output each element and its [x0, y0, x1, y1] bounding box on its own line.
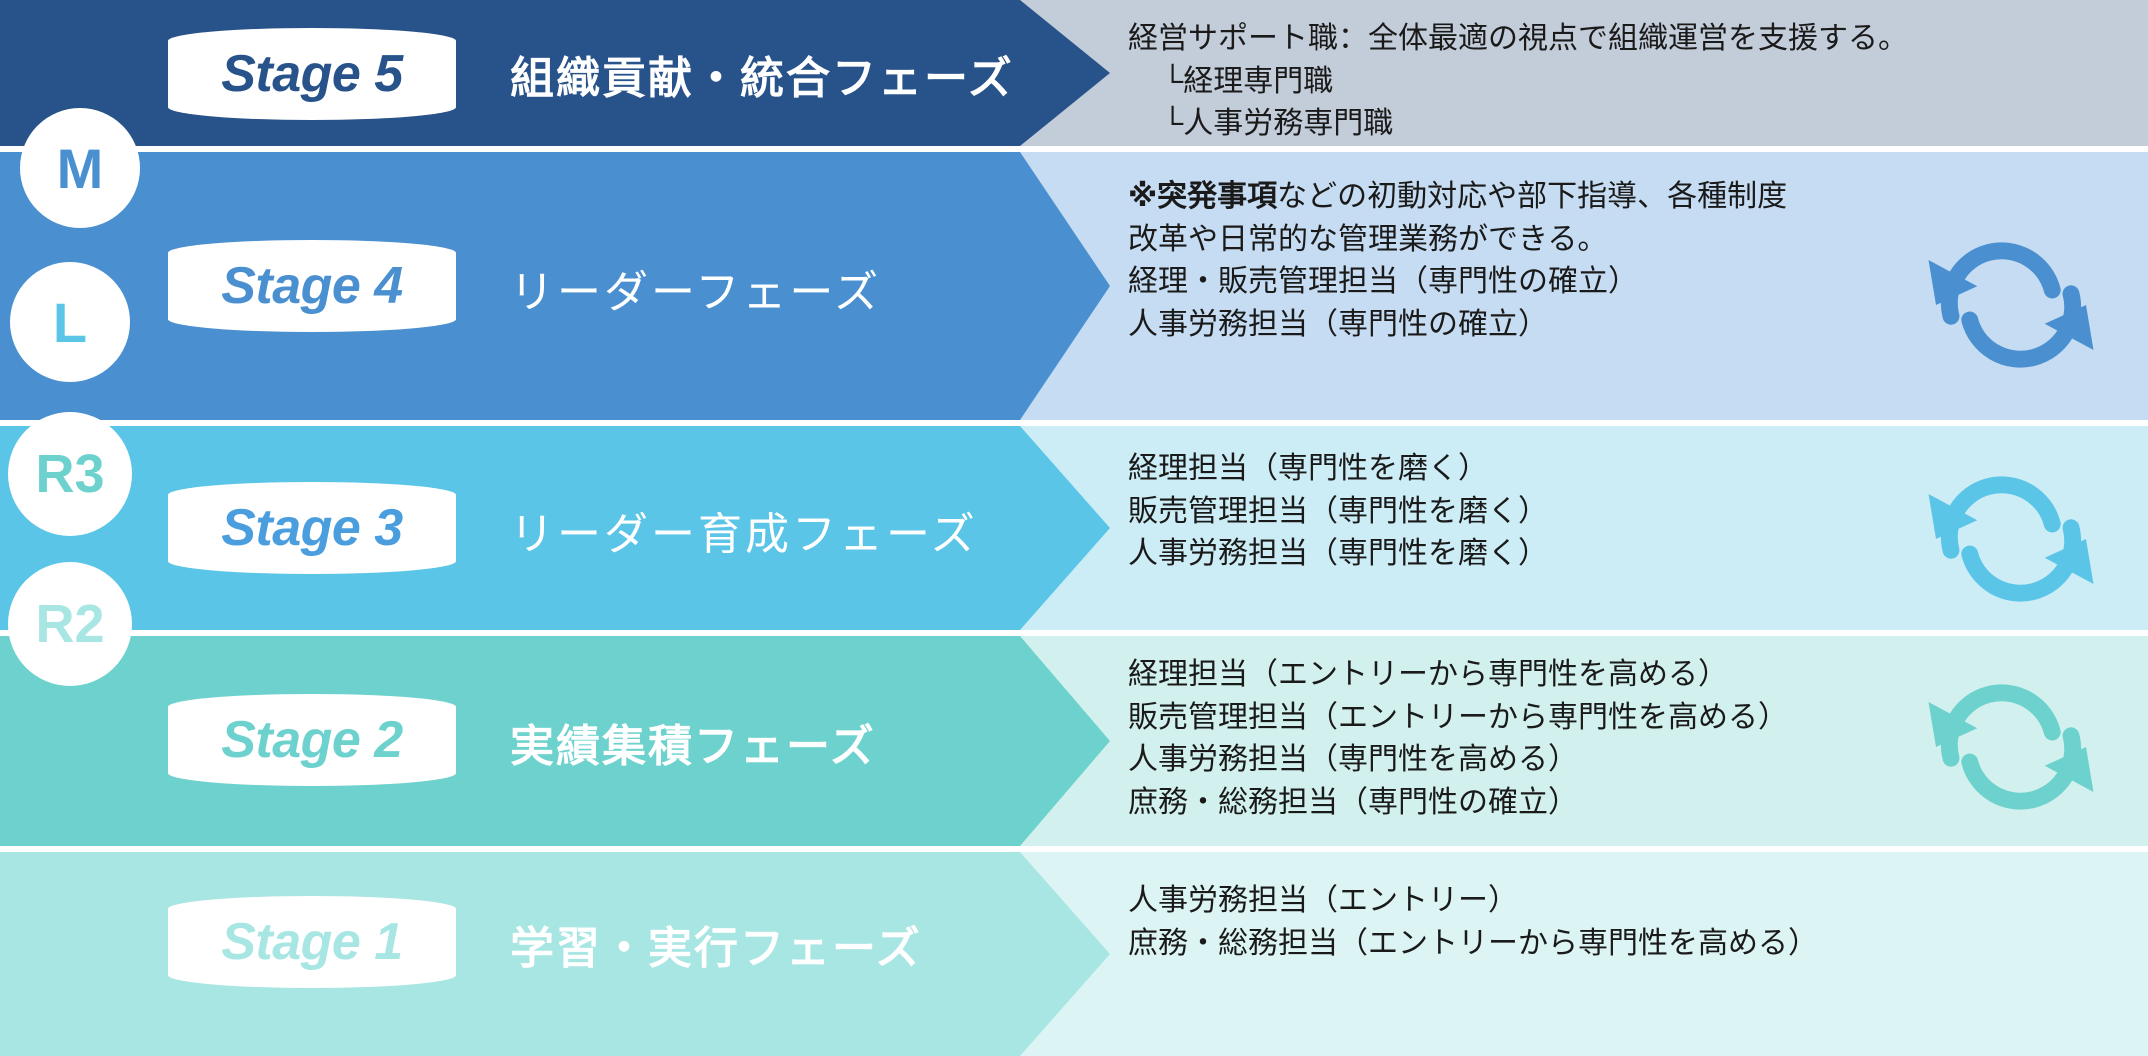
badge-l[interactable]: L [10, 262, 130, 382]
description-block: 経営サポート職：全体最適の視点で組織運営を支援する。 └経理専門職 └人事労務専… [1128, 18, 1908, 146]
description-block: 経理担当（専門性を磨く） 販売管理担当（専門性を磨く） 人事労務担当（専門性を磨… [1128, 448, 1548, 576]
description-block: 経理担当（エントリーから専門性を高める） 販売管理担当（エントリーから専門性を高… [1128, 654, 1788, 824]
badge-r3[interactable]: R3 [8, 412, 132, 536]
stage-row-4: Stage 4 リーダーフェーズ ※突発事項などの初動対応や部下指導、各種制度 … [0, 152, 2148, 420]
stage-pill-label: Stage 1 [221, 912, 402, 972]
desc-line: 庶務・総務担当（エントリーから専門性を高める） [1128, 923, 1818, 966]
career-stage-diagram: Stage 5 組織貢献・統合フェーズ 経営サポート職：全体最適の視点で組織運営… [0, 0, 2148, 1056]
recycle-icon [1916, 464, 2106, 614]
phase-label: 実績集積フェーズ [510, 710, 876, 774]
phase-label: 組織貢献・統合フェーズ [510, 42, 1014, 106]
desc-line: 経理担当（専門性を磨く） [1128, 448, 1548, 491]
desc-line: 経理担当（エントリーから専門性を高める） [1128, 654, 1788, 697]
phase-label: リーダーフェーズ [510, 256, 881, 320]
stage-row-5: Stage 5 組織貢献・統合フェーズ 経営サポート職：全体最適の視点で組織運営… [0, 0, 2148, 146]
stage-row-1: Stage 1 学習・実行フェーズ 人事労務担当（エントリー） 庶務・総務担当（… [0, 852, 2148, 1056]
stage-row-3: Stage 3 リーダー育成フェーズ 経理担当（専門性を磨く） 販売管理担当（専… [0, 426, 2148, 630]
badge-label: M [57, 136, 104, 201]
stage-pill-label: Stage 2 [221, 710, 402, 770]
desc-line: └経理専門職 [1128, 61, 1908, 104]
desc-line: ※突発事項などの初動対応や部下指導、各種制度 [1128, 176, 1787, 219]
desc-line: 人事労務担当（専門性を磨く） [1128, 533, 1548, 576]
badge-label: R2 [35, 593, 104, 655]
desc-line: 人事労務担当（エントリー） [1128, 880, 1818, 923]
stage-pill[interactable]: Stage 4 [168, 240, 456, 332]
stage-pill[interactable]: Stage 2 [168, 694, 456, 786]
stage-pill-label: Stage 4 [221, 256, 402, 316]
description-block: ※突発事項などの初動対応や部下指導、各種制度 改革や日常的な管理業務ができる。 … [1128, 176, 1787, 346]
desc-line: 経理・販売管理担当（専門性の確立） [1128, 261, 1787, 304]
desc-line: 販売管理担当（エントリーから専門性を高める） [1128, 697, 1788, 740]
stage-pill[interactable]: Stage 5 [168, 28, 456, 120]
desc-line: 改革や日常的な管理業務ができる。 [1128, 219, 1787, 262]
recycle-icon [1916, 672, 2106, 822]
badge-label: L [53, 290, 87, 355]
stage-pill-label: Stage 3 [221, 498, 402, 558]
stage-pill[interactable]: Stage 1 [168, 896, 456, 988]
desc-line: └人事労務専門職 [1128, 103, 1908, 146]
phase-label: リーダー育成フェーズ [510, 498, 978, 562]
desc-line: 人事労務担当（専門性の確立） [1128, 304, 1787, 347]
desc-line: 販売管理担当（専門性を磨く） [1128, 491, 1548, 534]
stage-pill-label: Stage 5 [221, 44, 402, 104]
phase-label: 学習・実行フェーズ [510, 912, 922, 976]
badge-label: R3 [35, 443, 104, 505]
desc-line: 人事労務担当（専門性を高める） [1128, 739, 1788, 782]
stage-row-2: Stage 2 実績集積フェーズ 経理担当（エントリーから専門性を高める） 販売… [0, 636, 2148, 846]
stage-pill[interactable]: Stage 3 [168, 482, 456, 574]
description-block: 人事労務担当（エントリー） 庶務・総務担当（エントリーから専門性を高める） [1128, 880, 1818, 965]
badge-r2[interactable]: R2 [8, 562, 132, 686]
desc-line: 庶務・総務担当（専門性の確立） [1128, 782, 1788, 825]
badge-m[interactable]: M [20, 108, 140, 228]
desc-line: 経営サポート職：全体最適の視点で組織運営を支援する。 [1128, 18, 1908, 61]
recycle-icon [1916, 230, 2106, 380]
